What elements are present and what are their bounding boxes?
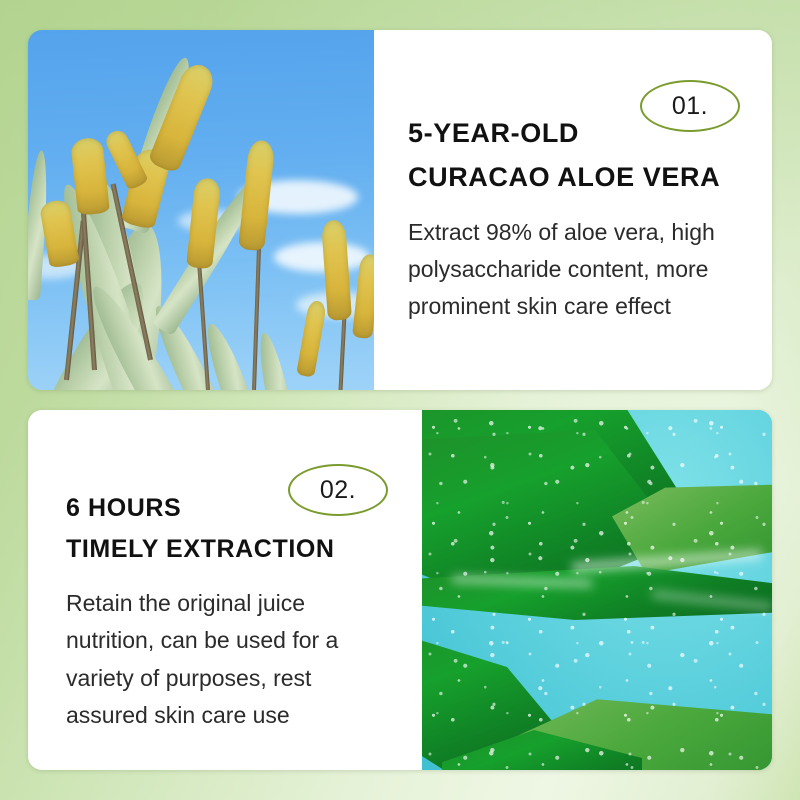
step-badge-label: 02. [320,476,356,505]
step-badge-02: 02. [288,464,388,516]
feature-text-panel-02: 02. 6 HOURS TIMELY EXTRACTION Retain the… [28,410,422,770]
aloe-flower-photo [28,30,374,390]
aloe-gel-photo [422,410,772,770]
body-copy-02: Retain the original juice nutrition, can… [66,585,396,734]
body-copy-01: Extract 98% of aloe vera, high polysacch… [408,214,738,326]
headline-line-2: CURACAO ALOE VERA [408,156,738,200]
product-feature-poster: 01. 5-YEAR-OLD CURACAO ALOE VERA Extract… [0,0,800,800]
feature-card-01: 01. 5-YEAR-OLD CURACAO ALOE VERA Extract… [28,30,772,390]
headline-line-2: TIMELY EXTRACTION [66,529,396,570]
step-badge-01: 01. [640,80,740,132]
feature-card-02: 02. 6 HOURS TIMELY EXTRACTION Retain the… [28,410,772,770]
feature-text-panel-01: 01. 5-YEAR-OLD CURACAO ALOE VERA Extract… [374,30,772,390]
water-droplets [422,410,772,770]
step-badge-label: 01. [672,92,708,121]
